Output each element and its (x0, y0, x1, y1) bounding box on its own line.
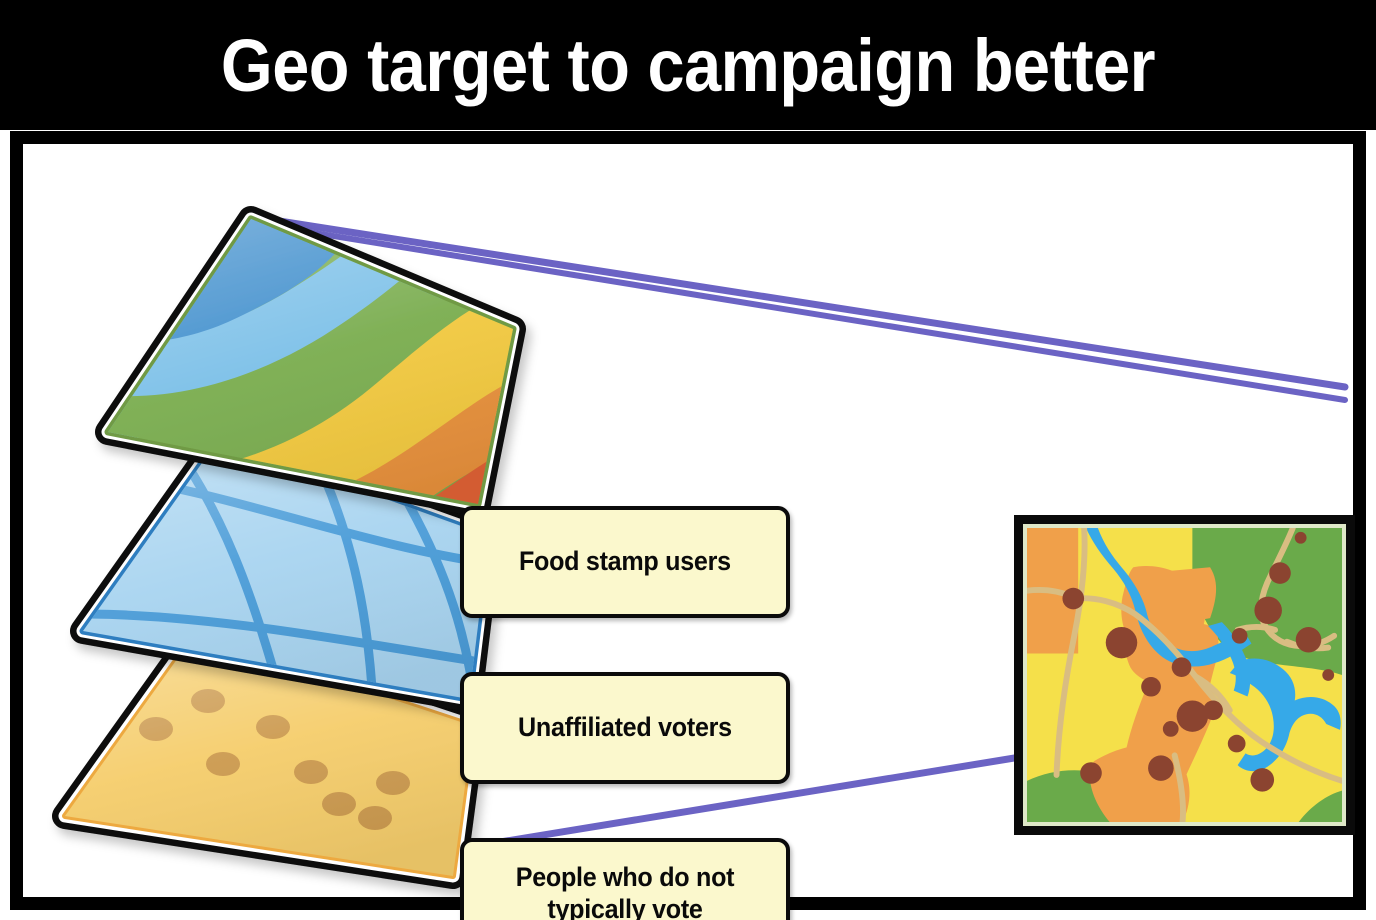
callout-food-stamp-users[interactable]: Food stamp users (460, 506, 790, 618)
zoomed-detail-map-inner (1027, 528, 1342, 822)
callout-non-voters-label: People who do not typically vote (475, 862, 774, 920)
content-frame: Food stamp users Unaffiliated voters Peo… (10, 131, 1366, 910)
callout-unaffiliated-voters-label: Unaffiliated voters (518, 712, 732, 744)
callout-non-voters[interactable]: People who do not typically vote (460, 838, 790, 920)
title-bar: Geo target to campaign better (0, 0, 1376, 130)
callout-unaffiliated-voters[interactable]: Unaffiliated voters (460, 672, 790, 784)
detail-map-graphic (1027, 528, 1342, 822)
slide-root: Geo target to campaign better (0, 0, 1376, 920)
zoomed-detail-map[interactable] (1014, 515, 1355, 835)
page-title: Geo target to campaign better (69, 0, 1307, 130)
callout-food-stamp-users-label: Food stamp users (519, 546, 731, 578)
